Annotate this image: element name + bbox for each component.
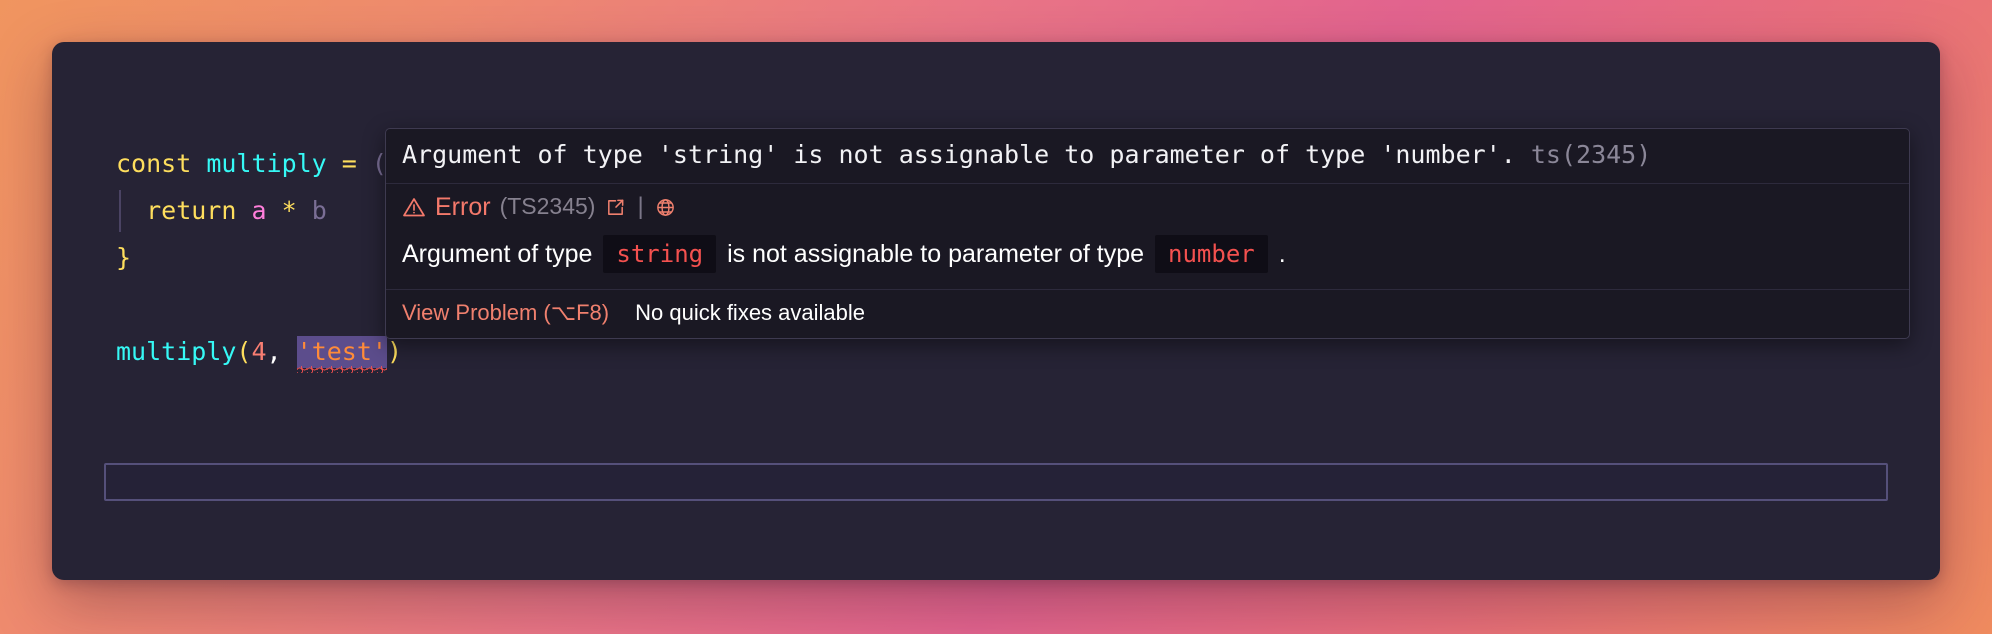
tooltip-message-row: Argument of type string is not assignabl… <box>386 227 1909 290</box>
token-keyword-return: return <box>116 196 251 225</box>
token-assign: = <box>327 149 372 178</box>
quick-fix-status: No quick fixes available <box>635 300 865 326</box>
tooltip-signature-row: Argument of type 'string' is not assigna… <box>386 129 1909 184</box>
token-call-paren-open: ( <box>236 337 251 366</box>
external-link-icon[interactable] <box>604 196 626 218</box>
globe-icon[interactable] <box>655 196 677 218</box>
token-arg-string-text: 'test' <box>297 337 387 366</box>
token-multiply-op: * <box>267 196 312 225</box>
separator-pipe: | <box>637 195 643 219</box>
tooltip-ts-code: ts(2345) <box>1531 140 1651 169</box>
error-severity-label: Error <box>435 192 491 222</box>
error-code-label: (TS2345) <box>500 193 596 221</box>
tooltip-footer: View Problem (⌥F8) No quick fixes availa… <box>386 290 1909 338</box>
code-line-3[interactable]: } <box>116 234 131 281</box>
editor-window: const multiply = (a: number, b: number) … <box>52 42 1940 580</box>
tooltip-error-header: Error (TS2345) | <box>386 184 1909 227</box>
code-line-2[interactable]: return a * b <box>116 187 327 234</box>
token-function-name: multiply <box>206 149 326 178</box>
hover-tooltip[interactable]: Argument of type 'string' is not assigna… <box>385 128 1910 339</box>
bottom-input-field[interactable] <box>104 463 1888 501</box>
tooltip-signature-text: Argument of type 'string' is not assigna… <box>402 140 1516 169</box>
token-arg-string-selected[interactable]: 'test' <box>297 336 387 368</box>
message-suffix: . <box>1279 240 1286 269</box>
token-var-a: a <box>251 196 266 225</box>
token-brace-close: } <box>116 243 131 272</box>
warning-triangle-icon <box>402 195 426 219</box>
view-problem-link[interactable]: View Problem (⌥F8) <box>402 300 609 326</box>
code-line-4[interactable]: multiply(4, 'test') <box>116 328 402 375</box>
error-squiggle <box>297 366 387 373</box>
token-arg-number: 4 <box>251 337 266 366</box>
message-prefix: Argument of type <box>402 240 592 269</box>
token-arg-comma: , <box>267 337 297 366</box>
message-middle: is not assignable to parameter of type <box>727 240 1144 269</box>
message-type-expected: number <box>1155 235 1268 273</box>
token-call-paren-close: ) <box>387 337 402 366</box>
token-var-b: b <box>312 196 327 225</box>
token-call-multiply[interactable]: multiply <box>116 337 236 366</box>
message-type-actual: string <box>603 235 716 273</box>
token-keyword-const: const <box>116 149 206 178</box>
